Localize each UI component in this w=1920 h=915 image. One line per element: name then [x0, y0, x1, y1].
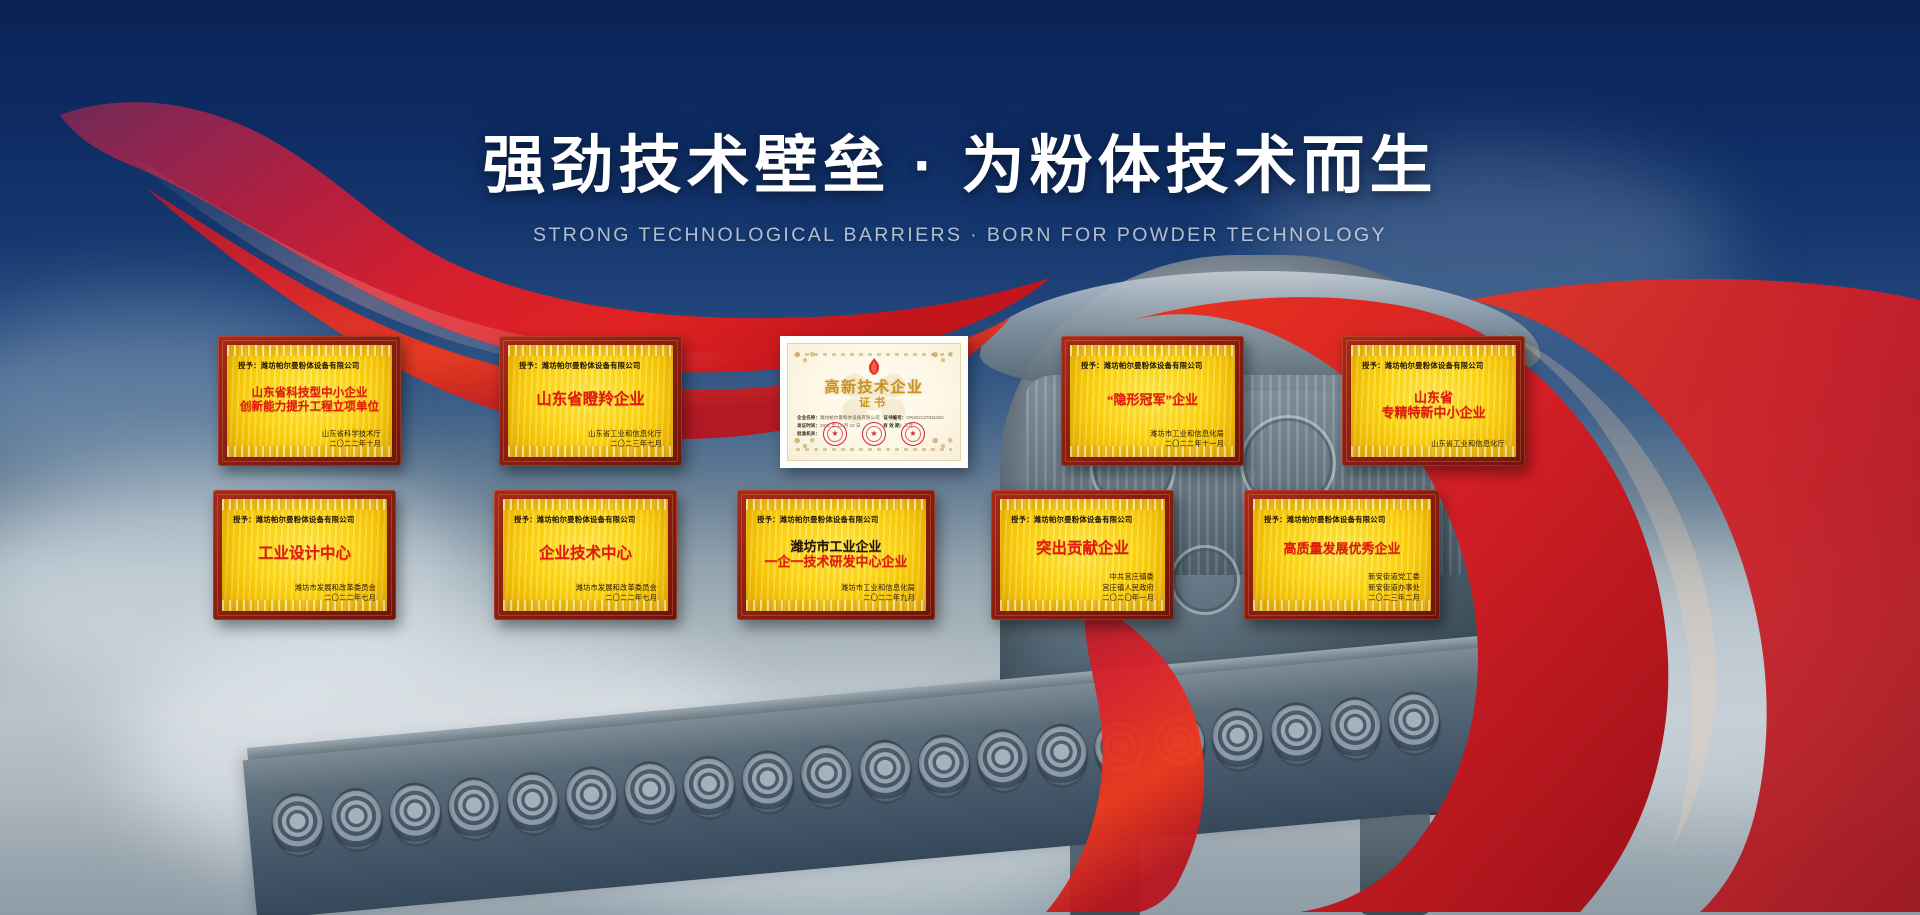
plaque-main-text: 工业设计中心: [233, 525, 376, 583]
field-label: 企业名称：: [797, 415, 820, 420]
medallion-icon: [563, 764, 620, 830]
plaque-issuer-date: 二〇二二年七月: [233, 593, 376, 604]
seal-icon: ★: [862, 422, 886, 446]
plaque-issuer: 潍坊市发展和改革委员会 二〇二二年七月: [233, 583, 376, 604]
field-value: 潍坊帕尔曼粉体设备有限公司: [820, 415, 880, 420]
medallion-icon: [445, 775, 502, 841]
high-tech-enterprise-certificate[interactable]: 高新技术企业 证书 企业名称：潍坊帕尔曼粉体设备有限公司 证书编号：GR2021…: [780, 336, 968, 468]
plaque-issuer-line: 潍坊市发展和改革委员会: [514, 583, 657, 594]
plaque-issuer: 山东省工业和信息化厅 二〇二三年七月: [519, 429, 662, 450]
grid-cell: 授予：潍坊帕尔曼粉体设备有限公司 企业技术中心 潍坊市发展和改革委员会 二〇二二…: [494, 490, 677, 620]
plaque-main-line: 潍坊市工业企业: [790, 539, 881, 554]
medallion-icon: [1268, 700, 1325, 766]
certificate-seals: ★ ★ ★: [788, 422, 960, 446]
medallion-icon: [1150, 711, 1207, 777]
grid-cell: 高新技术企业 证书 企业名称：潍坊帕尔曼粉体设备有限公司 证书编号：GR2021…: [780, 336, 968, 468]
plaque-award-line: 授予：潍坊帕尔曼粉体设备有限公司: [1011, 514, 1154, 525]
plaque-award-line: 授予：潍坊帕尔曼粉体设备有限公司: [1362, 360, 1505, 371]
honors-row-2: 授予：潍坊帕尔曼粉体设备有限公司 工业设计中心 潍坊市发展和改革委员会 二〇二二…: [218, 490, 1710, 620]
plaque-issuer-line: 山东省科学技术厅: [238, 429, 381, 440]
medallion-icon: [798, 743, 855, 809]
plaque-main-line: “隐形冠军”企业: [1107, 392, 1198, 407]
plaque-issuer-line: 宫庄镇人民政府: [1011, 583, 1154, 594]
certificate-corner-ornament-icon: [930, 348, 956, 370]
plaque-award[interactable]: 授予：潍坊帕尔曼粉体设备有限公司 潍坊市工业企业 一企一技术研发中心企业 潍坊市…: [737, 490, 935, 620]
medallion-icon: [1327, 695, 1384, 761]
plaque-issuer-line: 新安街道党工委: [1264, 572, 1420, 583]
plaque-issuer-line: 潍坊市工业和信息化局: [757, 583, 915, 594]
plaque-award[interactable]: 授予：潍坊帕尔曼粉体设备有限公司 高质量发展优秀企业 新安街道党工委 新安街道办…: [1244, 490, 1440, 620]
medallion-icon: [1209, 706, 1266, 772]
flame-logo-icon: [866, 357, 883, 376]
certificate-rule: [796, 353, 952, 356]
certificate-field-row: 企业名称：潍坊帕尔曼粉体设备有限公司 证书编号：GR202137031602: [797, 414, 951, 422]
plaque-main-text: 山东省 专精特新中小企业: [1362, 371, 1505, 439]
plaque-issuer-line: 潍坊市发展和改革委员会: [233, 583, 376, 594]
plaque-award-line: 授予：潍坊帕尔曼粉体设备有限公司: [1081, 360, 1224, 371]
medallion-icon: [974, 727, 1031, 793]
plaque-award[interactable]: 授予：潍坊帕尔曼粉体设备有限公司 山东省 专精特新中小企业 山东省工业和信息化厅: [1342, 336, 1525, 466]
grid-cell: 授予：潍坊帕尔曼粉体设备有限公司 突出贡献企业 中共宫庄镇委 宫庄镇人民政府 二…: [991, 490, 1174, 620]
plaque-main-text: 突出贡献企业: [1011, 525, 1154, 572]
plaque-main-line: 山东省科技型中小企业: [252, 386, 368, 399]
plaque-award-line: 授予：潍坊帕尔曼粉体设备有限公司: [514, 514, 657, 525]
plaque-award-line: 授予：潍坊帕尔曼粉体设备有限公司: [519, 360, 662, 371]
plaque-award-line: 授予：潍坊帕尔曼粉体设备有限公司: [757, 514, 915, 525]
plaque-award[interactable]: 授予：潍坊帕尔曼粉体设备有限公司 突出贡献企业 中共宫庄镇委 宫庄镇人民政府 二…: [991, 490, 1174, 620]
plaque-main-line: 创新能力提升工程立项单位: [240, 400, 379, 413]
plaque-issuer-line: 山东省工业和信息化厅: [1362, 439, 1505, 450]
grid-cell: 授予：潍坊帕尔曼粉体设备有限公司 工业设计中心 潍坊市发展和改革委员会 二〇二二…: [213, 490, 396, 620]
medallion-icon: [857, 738, 914, 804]
seal-icon: ★: [823, 422, 847, 446]
plaque-award[interactable]: 授予：潍坊帕尔曼粉体设备有限公司 山东省瞪羚企业 山东省工业和信息化厅 二〇二三…: [499, 336, 682, 466]
plaque-main-line: 山东省: [1414, 390, 1453, 405]
plaque-main-text: 高质量发展优秀企业: [1264, 525, 1420, 572]
plaque-issuer-date: 二〇二二年九月: [757, 593, 915, 604]
medallion-icon: [504, 770, 561, 836]
medallion-icon: [269, 791, 326, 857]
medallion-icon: [328, 786, 385, 852]
plaque-issuer: 潍坊市工业和信息化局 二〇二二年十一月: [1081, 429, 1224, 450]
plaque-main-line: 突出贡献企业: [1036, 540, 1129, 558]
medallion-icon: [739, 748, 796, 814]
plaque-award[interactable]: 授予：潍坊帕尔曼粉体设备有限公司 “隐形冠军”企业 潍坊市工业和信息化局 二〇二…: [1061, 336, 1244, 466]
plaque-main-line: 企业技术中心: [539, 545, 632, 563]
plaque-issuer-date: 二〇二三年二月: [1264, 593, 1420, 604]
plaque-main-line: 山东省瞪羚企业: [536, 391, 645, 409]
medallion-icon: [680, 754, 737, 820]
seal-star-glyph: ★: [831, 430, 838, 438]
plaque-issuer: 潍坊市发展和改革委员会 二〇二二年七月: [514, 583, 657, 604]
plaque-issuer: 山东省科学技术厅 二〇二二年十月: [238, 429, 381, 450]
honors-grid: 授予：潍坊帕尔曼粉体设备有限公司 山东省科技型中小企业 创新能力提升工程立项单位…: [218, 336, 1710, 620]
field-value: GR202137031602: [906, 415, 944, 420]
plaque-issuer: 山东省工业和信息化厅: [1362, 439, 1505, 450]
grid-cell: 授予：潍坊帕尔曼粉体设备有限公司 山东省 专精特新中小企业 山东省工业和信息化厅: [1342, 336, 1525, 468]
medallion-icon: [387, 780, 444, 846]
page-subtitle: STRONG TECHNOLOGICAL BARRIERS · BORN FOR…: [0, 224, 1920, 247]
grid-cell: 授予：潍坊帕尔曼粉体设备有限公司 山东省瞪羚企业 山东省工业和信息化厅 二〇二三…: [499, 336, 682, 468]
plaque-main-line: 工业设计中心: [258, 545, 351, 563]
medallion-icon: [915, 732, 972, 798]
plaque-main-line: 专精特新中小企业: [1381, 405, 1485, 420]
grid-cell: 授予：潍坊帕尔曼粉体设备有限公司 潍坊市工业企业 一企一技术研发中心企业 潍坊市…: [737, 490, 935, 620]
plaque-main-text: 潍坊市工业企业 一企一技术研发中心企业: [757, 525, 915, 583]
plaque-issuer-date: 二〇二三年七月: [519, 439, 662, 450]
plaque-issuer-date: 二〇二二年十月: [238, 439, 381, 450]
banner-title-block: 强劲技术壁垒 · 为粉体技术而生 STRONG TECHNOLOGICAL BA…: [0, 130, 1920, 247]
plaque-award[interactable]: 授予：潍坊帕尔曼粉体设备有限公司 工业设计中心 潍坊市发展和改革委员会 二〇二二…: [213, 490, 396, 620]
plaque-award[interactable]: 授予：潍坊帕尔曼粉体设备有限公司 企业技术中心 潍坊市发展和改革委员会 二〇二二…: [494, 490, 677, 620]
honors-row-1: 授予：潍坊帕尔曼粉体设备有限公司 山东省科技型中小企业 创新能力提升工程立项单位…: [218, 336, 1710, 468]
plaque-main-line: 高质量发展优秀企业: [1283, 541, 1400, 556]
plaque-award[interactable]: 授予：潍坊帕尔曼粉体设备有限公司 山东省科技型中小企业 创新能力提升工程立项单位…: [218, 336, 401, 466]
grid-cell: 授予：潍坊帕尔曼粉体设备有限公司 山东省科技型中小企业 创新能力提升工程立项单位…: [218, 336, 401, 468]
plaque-issuer: 潍坊市工业和信息化局 二〇二二年九月: [757, 583, 915, 604]
certificate-corner-ornament-icon: [792, 348, 818, 370]
plaque-issuer-line: 中共宫庄镇委: [1011, 572, 1154, 583]
seal-icon: ★: [901, 422, 925, 446]
seal-star-glyph: ★: [870, 430, 877, 438]
plaque-issuer-line: 潍坊市工业和信息化局: [1081, 429, 1224, 440]
plaque-issuer-line: 山东省工业和信息化厅: [519, 429, 662, 440]
medallion-icon: [622, 759, 679, 825]
plaque-award-line: 授予：潍坊帕尔曼粉体设备有限公司: [238, 360, 381, 371]
plaque-issuer-date: 二〇二二年十一月: [1081, 439, 1224, 450]
plaque-award-line: 授予：潍坊帕尔曼粉体设备有限公司: [1264, 514, 1420, 525]
plaque-main-text: 山东省科技型中小企业 创新能力提升工程立项单位: [238, 371, 381, 429]
grid-cell: 授予：潍坊帕尔曼粉体设备有限公司 “隐形冠军”企业 潍坊市工业和信息化局 二〇二…: [1061, 336, 1244, 468]
field-label: 证书编号：: [883, 415, 906, 420]
banner-stage: 强劲技术壁垒 · 为粉体技术而生 STRONG TECHNOLOGICAL BA…: [0, 0, 1920, 915]
medallion-icon: [1033, 722, 1090, 788]
plaque-issuer: 新安街道党工委 新安街道办事处 二〇二三年二月: [1264, 572, 1420, 604]
page-title: 强劲技术壁垒 · 为粉体技术而生: [0, 130, 1920, 202]
plaque-main-text: “隐形冠军”企业: [1081, 371, 1224, 429]
certificate-subtitle: 证书: [788, 394, 960, 410]
plaque-main-line: 一企一技术研发中心企业: [764, 554, 907, 569]
medallion-icon: [1092, 716, 1149, 782]
seal-star-glyph: ★: [909, 430, 916, 438]
plaque-issuer-date: 二〇二〇年一月: [1011, 593, 1154, 604]
plaque-main-text: 企业技术中心: [514, 525, 657, 583]
plaque-main-text: 山东省瞪羚企业: [519, 371, 662, 429]
plaque-issuer: 中共宫庄镇委 宫庄镇人民政府 二〇二〇年一月: [1011, 572, 1154, 604]
grid-cell: 授予：潍坊帕尔曼粉体设备有限公司 高质量发展优秀企业 新安街道党工委 新安街道办…: [1244, 490, 1440, 620]
medallion-icon: [1386, 690, 1443, 756]
certificate-rule: [796, 448, 952, 451]
plaque-issuer-line: 新安街道办事处: [1264, 583, 1420, 594]
plaque-award-line: 授予：潍坊帕尔曼粉体设备有限公司: [233, 514, 376, 525]
plaque-issuer-date: 二〇二二年七月: [514, 593, 657, 604]
